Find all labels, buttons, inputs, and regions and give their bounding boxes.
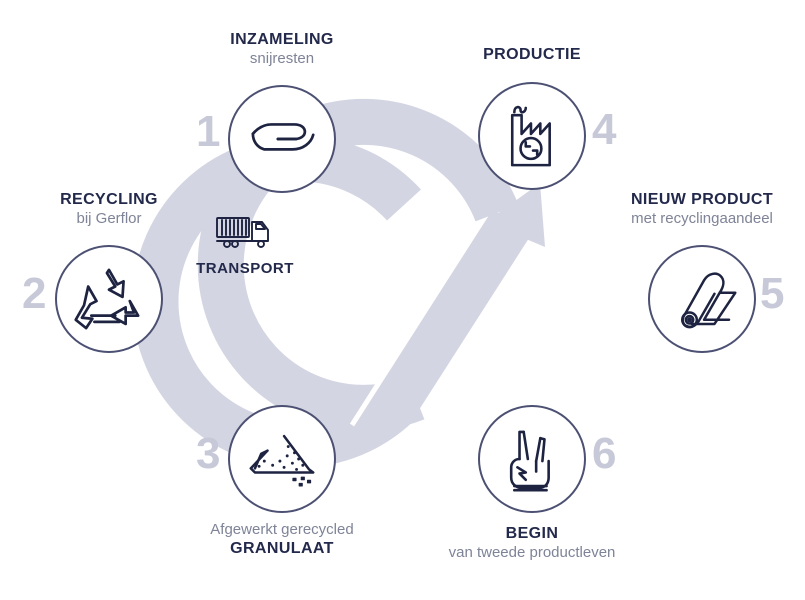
step-4-title: PRODUCTIE: [432, 45, 632, 65]
step-4-label: PRODUCTIE: [432, 45, 632, 65]
step-4-circle[interactable]: [478, 82, 586, 190]
step-2-number: 2: [22, 272, 46, 316]
step-6-circle[interactable]: [478, 405, 586, 513]
step-1-circle[interactable]: [228, 85, 336, 193]
open-hand-icon: [230, 87, 334, 191]
granulate-pile-icon: [230, 407, 334, 511]
recycling-arrows-icon: [57, 247, 161, 351]
step-2-title: RECYCLING: [9, 190, 209, 210]
step-3-circle[interactable]: [228, 405, 336, 513]
step-1-subtitle: snijresten: [182, 50, 382, 68]
step-4-number: 4: [592, 108, 616, 152]
circular-economy-diagram: 1 INZAMELING snijresten 2 RECYCLING bij …: [0, 0, 805, 600]
victory-hand-icon: [480, 407, 584, 511]
transport-block: TRANSPORT: [175, 212, 315, 277]
step-3-number: 3: [196, 432, 220, 476]
flooring-roll-icon: [650, 247, 754, 351]
step-6-subtitle: van tweede productleven: [432, 544, 632, 562]
step-5-number: 5: [760, 272, 784, 316]
step-5-circle[interactable]: [648, 245, 756, 353]
step-1-label: INZAMELING snijresten: [182, 30, 382, 68]
step-2-circle[interactable]: [55, 245, 163, 353]
step-6-label: BEGIN van tweede productleven: [432, 524, 632, 562]
step-3-title: GRANULAAT: [182, 539, 382, 559]
step-5-title: NIEUW PRODUCT: [602, 190, 802, 210]
step-1-number: 1: [196, 110, 220, 154]
factory-recycle-icon: [480, 84, 584, 188]
step-6-number: 6: [592, 432, 616, 476]
step-3-subtitle: Afgewerkt gerecycled: [182, 521, 382, 539]
delivery-truck-icon: [214, 212, 276, 254]
step-3-label: Afgewerkt gerecycled GRANULAAT: [182, 521, 382, 559]
ribbon-crossing-band: [398, 222, 512, 400]
step-1-title: INZAMELING: [182, 30, 382, 50]
transport-label: TRANSPORT: [175, 260, 315, 277]
step-5-subtitle: met recyclingaandeel: [602, 210, 802, 228]
step-5-label: NIEUW PRODUCT met recyclingaandeel: [602, 190, 802, 228]
step-6-title: BEGIN: [432, 524, 632, 544]
